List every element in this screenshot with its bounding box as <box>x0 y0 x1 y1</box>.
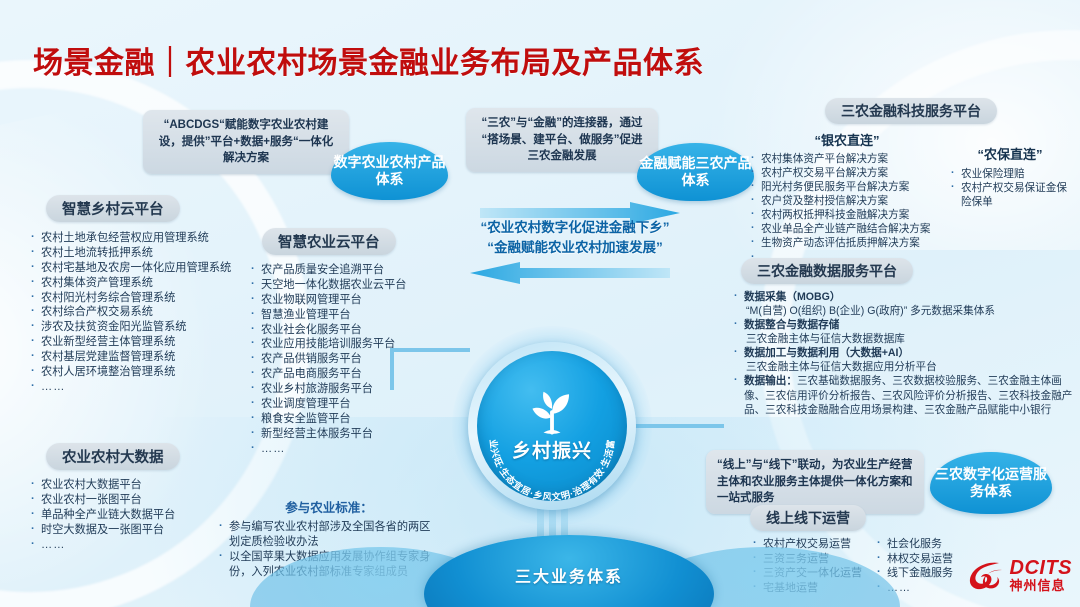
slogan-line-1: “农业农村数字化促进金融下乡” <box>455 218 695 238</box>
list-item: 数据输出：三农基础数据服务、三农数据校验服务、三农金融主体画像、三农信用评价分析… <box>733 374 1073 416</box>
slogan-line-2: “金融赋能农业农村加速发展” <box>455 238 695 258</box>
panel-big-data-header: 农业农村大数据 <box>46 443 180 470</box>
panel-agri-standard-header: 参与农业标准： <box>218 497 440 516</box>
list-item: 智慧渔业管理平台 <box>250 308 450 323</box>
list-item: 农村人居环境整治管理系统 <box>30 365 256 380</box>
fintech-right-list: 农业保险理赔农村产权交易保证金保险保单 <box>950 167 1070 209</box>
list-item: 新型经营主体服务平台 <box>250 427 450 442</box>
list-item-title: 数据加工与数据利用（大数据+AI） <box>744 347 909 359</box>
list-item: 数据整合与数据存储 <box>733 318 1073 332</box>
fintech-left-list: 农村集体资产平台解决方案农村产权交易平台解决方案阳光村务便民服务平台解决方案农户… <box>750 152 944 265</box>
panel-fintech-header: 三农金融科技服务平台 <box>825 98 997 124</box>
list-item: 农村两权抵押科技金融解决方案 <box>750 208 944 222</box>
list-item-sub: 三农金融主体与征信大数据数据库 <box>733 332 1073 346</box>
list-item: 数据加工与数据利用（大数据+AI） <box>733 346 1073 360</box>
panel-smart-agri: 智慧农业云平台 农产品质量安全追溯平台天空地一体化数据农业云平台农业物联网管理平… <box>250 228 450 457</box>
panel-online-offline-header: 线上线下运营 <box>750 505 866 531</box>
list-item: 参与编写农业农村部涉及全国各省的两区划定质检验收办法 <box>218 520 440 550</box>
panel-fin-data-header: 三农金融数据服务平台 <box>741 258 913 284</box>
list-item: 生物资产动态评估抵质押解决方案 <box>750 236 944 250</box>
cloud-digital-ops-label: 三农数字化运营服务体系 <box>930 466 1052 501</box>
connector-left-horizontal <box>390 348 470 352</box>
slogan-block: “农业农村数字化促进金融下乡” “金融赋能农业农村加速发展” <box>455 218 695 257</box>
list-item: 农村综合产权交易系统 <box>30 305 256 320</box>
logo-en-text: DCITS <box>1010 558 1073 579</box>
list-item: 农村基层党建监督管理系统 <box>30 350 256 365</box>
swirl-icon <box>966 559 1006 593</box>
list-item: 农产品电商服务平台 <box>250 367 450 382</box>
fintech-right-title: “农保直连” <box>950 144 1070 163</box>
callout-connector: “三农”与“金融”的连接器，通过“搭场景、建平台、做服务”促进三农金融发展 <box>466 108 658 172</box>
logo-cn-text: 神州信息 <box>1010 579 1073 593</box>
cloud-digital-agriculture-label: 数字农业农村产品体系 <box>331 154 448 189</box>
smart-agri-list: 农产品质量安全追溯平台天空地一体化数据农业云平台农业物联网管理平台智慧渔业管理平… <box>250 263 450 457</box>
cloud-three-business-systems: 三大业务体系 <box>424 535 714 607</box>
list-item: 天空地一体化数据农业云平台 <box>250 278 450 293</box>
callout-abcdgs: “ABCDGS“赋能数字农业农村建设，提供”平台+数据+服务“一体化解决方案 <box>143 110 349 174</box>
cloud-finance-empower-label: 金融赋能三农产品体系 <box>637 155 754 190</box>
panel-smart-village: 智慧乡村云平台 农村土地承包经营权应用管理系统农村土地流转抵押系统农村宅基地及农… <box>30 195 256 395</box>
list-item: 农村宅基地及农房一体化应用管理系统 <box>30 261 256 276</box>
slide-canvas: 场景金融｜农业农村场景金融业务布局及产品体系 “ABCDGS“赋能数字农业农村建… <box>0 0 1080 607</box>
list-item: 农业单品全产业链产融结合解决方案 <box>750 222 944 236</box>
center-hub: 乡村振兴 产业兴旺·生态宜居·乡风文明·治理有效·生活富裕 <box>468 342 636 510</box>
list-item: 农产品质量安全追溯平台 <box>250 263 450 278</box>
panel-fin-data: 三农金融数据服务平台 数据采集（MOBG）“M(自营) O(组织) B(企业) … <box>733 258 1073 417</box>
arrow-left <box>470 262 670 284</box>
dcits-logo: DCITS 神州信息 <box>966 558 1073 593</box>
fin-data-list: 数据采集（MOBG）“M(自营) O(组织) B(企业) G(政府)” 多元数据… <box>733 290 1073 417</box>
list-item: 农业保险理赔 <box>950 167 1070 181</box>
list-item: 农村土地流转抵押系统 <box>30 246 256 261</box>
list-item: 农村阳光村务综合管理系统 <box>30 291 256 306</box>
list-item: 农业物联网管理平台 <box>250 293 450 308</box>
list-item: 农业农村大数据平台 <box>30 478 256 493</box>
list-item: 农业新型经营主体管理系统 <box>30 335 256 350</box>
list-item: 阳光村务便民服务平台解决方案 <box>750 180 944 194</box>
smart-village-list: 农村土地承包经营权应用管理系统农村土地流转抵押系统农村宅基地及农房一体化应用管理… <box>30 231 256 395</box>
cloud-finance-empower: 金融赋能三农产品体系 <box>637 143 754 201</box>
list-item: 农业乡村旅游服务平台 <box>250 382 450 397</box>
list-item: 农村产权交易平台解决方案 <box>750 166 944 180</box>
list-item: 数据采集（MOBG） <box>733 290 1073 304</box>
list-item: 农村集体资产平台解决方案 <box>750 152 944 166</box>
list-item: 农村产权交易保证金保险保单 <box>950 181 1070 209</box>
list-item: 农村集体资产管理系统 <box>30 276 256 291</box>
list-item: 粮食安全监管平台 <box>250 412 450 427</box>
list-item-sub: “M(自营) O(组织) B(企业) G(政府)” 多元数据采集体系 <box>733 304 1073 318</box>
connector-left-vertical <box>390 348 394 390</box>
list-item: 农业调度管理平台 <box>250 397 450 412</box>
list-item: 农村土地承包经营权应用管理系统 <box>30 231 256 246</box>
fintech-left-title: “银农直连” <box>750 130 944 149</box>
cloud-digital-agriculture: 数字农业农村产品体系 <box>331 142 448 200</box>
page-title: 场景金融｜农业农村场景金融业务布局及产品体系 <box>33 38 704 82</box>
list-item-sub: 三农金融主体与征信大数据应用分析平台 <box>733 360 1073 374</box>
list-item: 农产品供销服务平台 <box>250 352 450 367</box>
list-item-title: 数据采集（MOBG） <box>744 291 841 303</box>
list-item: 社会化服务 <box>876 537 953 552</box>
list-item: 农业社会化服务平台 <box>250 323 450 338</box>
panel-smart-agri-header: 智慧农业云平台 <box>262 228 396 255</box>
cloud-three-business-systems-label: 三大业务体系 <box>515 563 623 607</box>
list-item: 线下金融服务 <box>876 566 953 581</box>
center-ring-text: 产业兴旺·生态宜居·乡风文明·治理有效·生活富裕 <box>468 342 636 510</box>
panel-smart-village-header: 智慧乡村云平台 <box>46 195 180 222</box>
list-item-title: 数据整合与数据存储 <box>744 319 839 331</box>
list-item: …… <box>30 380 256 395</box>
list-item-title: 数据输出： <box>744 375 797 387</box>
panel-fintech: 三农金融科技服务平台 “银农直连” 农村集体资产平台解决方案农村产权交易平台解决… <box>750 98 1072 265</box>
list-item: 林权交易运营 <box>876 552 953 567</box>
list-item: 涉农及扶贫资金阳光监管系统 <box>30 320 256 335</box>
center-ring-text-label: 产业兴旺·生态宜居·乡风文明·治理有效·生活富裕 <box>468 342 616 502</box>
list-item: …… <box>250 442 450 457</box>
list-item: 农户贷及整村授信解决方案 <box>750 194 944 208</box>
